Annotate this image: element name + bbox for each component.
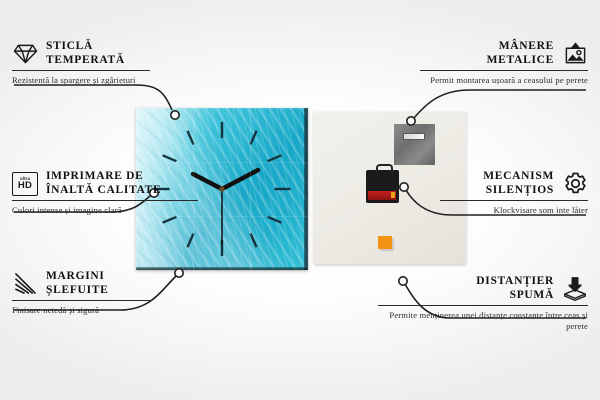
feature-mechanism-rule (440, 200, 588, 201)
feature-glass-title: STICLĂTEMPERATĂ (46, 40, 125, 67)
feature-glass-rule (12, 70, 150, 71)
feature-edges-title: MARGINIȘLEFUITE (46, 270, 108, 297)
foam-spacer-icon (562, 276, 588, 302)
feature-spacer: DISTANȚIERSPUMĂ Permite menținerea unei … (378, 275, 588, 333)
diamond-icon (12, 41, 38, 67)
feature-edges: MARGINIȘLEFUITE Finisare netedă și sigur… (12, 270, 222, 316)
feature-glass: STICLĂTEMPERATĂ Rezistentă la spargere ș… (12, 40, 222, 86)
ultra-hd-icon: ultra HD (12, 171, 38, 197)
feature-handles-description: Permit montarea ușoară a ceasului pe per… (378, 75, 588, 86)
feature-print-head: ultra HD IMPRIMARE DEÎNALTĂ CALITATE (12, 170, 222, 197)
hanger-slot (403, 133, 425, 140)
feature-mechanism: MECANISMSILENȚIOS Klockvisare som inte l… (378, 170, 588, 216)
connector-glass (14, 85, 172, 110)
feature-edges-rule (12, 300, 150, 301)
feature-handles-head: MÂNEREMETALICE (378, 40, 588, 67)
feature-handles-title: MÂNEREMETALICE (487, 40, 554, 67)
feature-edges-head: MARGINIȘLEFUITE (12, 270, 222, 297)
feature-handles-rule (420, 70, 588, 71)
feature-print: ultra HD IMPRIMARE DEÎNALTĂ CALITATE Cul… (12, 170, 222, 216)
gear-icon (562, 171, 588, 197)
feature-glass-head: STICLĂTEMPERATĂ (12, 40, 222, 67)
feature-mechanism-head: MECANISMSILENȚIOS (378, 170, 588, 197)
clock-edge-right (304, 108, 308, 270)
polished-edges-icon (12, 271, 38, 297)
feature-spacer-rule (378, 305, 588, 306)
ultra-hd-icon-main-text: HD (18, 181, 32, 191)
feature-glass-description: Rezistentă la spargere și zgârieturi (12, 75, 222, 86)
foam-spacer-pad (378, 236, 392, 249)
feature-print-rule (12, 200, 198, 201)
feature-edges-description: Finisare netedă și sigură (12, 305, 222, 316)
minute-hand (222, 170, 258, 189)
feature-print-title: IMPRIMARE DEÎNALTĂ CALITATE (46, 170, 161, 197)
feature-spacer-head: DISTANȚIERSPUMĂ (378, 275, 588, 302)
feature-spacer-description: Permite menținerea unei distanțe constan… (378, 310, 588, 333)
feature-print-description: Culori intense și imagine clară (12, 205, 222, 216)
metal-hanger-bracket (394, 124, 435, 165)
feature-spacer-title: DISTANȚIERSPUMĂ (476, 275, 554, 302)
feature-mechanism-description: Klockvisare som inte låter (378, 205, 588, 216)
feature-mechanism-title: MECANISMSILENȚIOS (483, 170, 554, 197)
infographic-canvas: STICLĂTEMPERATĂ Rezistentă la spargere ș… (0, 0, 600, 400)
picture-hanger-icon (562, 41, 588, 67)
feature-handles: MÂNEREMETALICE Permit montarea ușoară a … (378, 40, 588, 86)
